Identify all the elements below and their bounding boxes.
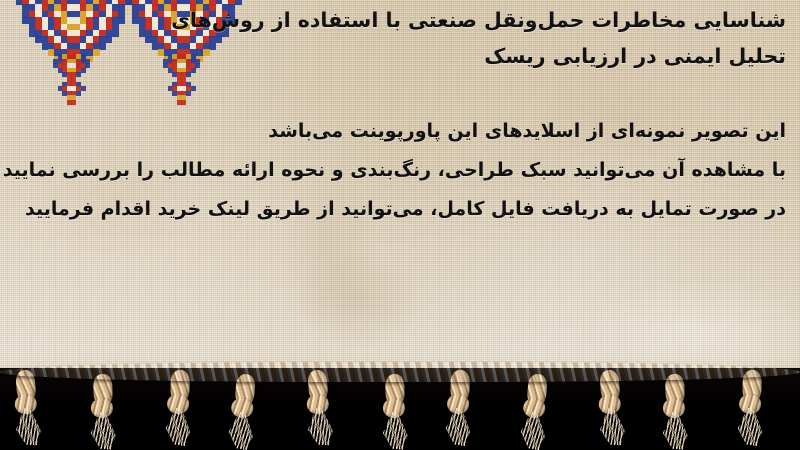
slide-title-line-1: شناسایی مخاطرات حمل‌ونقل صنعتی با استفاد…	[16, 2, 786, 38]
slide-body-line-2: با مشاهده آن می‌توانید سبک طراحی، رنگ‌بن…	[16, 151, 786, 190]
slide-body-line-1: این تصویر نمونه‌ای از اسلایدهای این پاور…	[16, 112, 786, 151]
slide-canvas: شناسایی مخاطرات حمل‌ونقل صنعتی با استفاد…	[0, 0, 800, 450]
slide-title-line-2: تحلیل ایمنی در ارزیابی ریسک	[16, 38, 786, 74]
slide-title: شناسایی مخاطرات حمل‌ونقل صنعتی با استفاد…	[16, 2, 786, 74]
text-layer: شناسایی مخاطرات حمل‌ونقل صنعتی با استفاد…	[0, 0, 800, 450]
slide-body: این تصویر نمونه‌ای از اسلایدهای این پاور…	[16, 112, 786, 229]
slide-body-line-3: در صورت تمایل به دریافت فایل کامل، می‌تو…	[16, 190, 786, 229]
